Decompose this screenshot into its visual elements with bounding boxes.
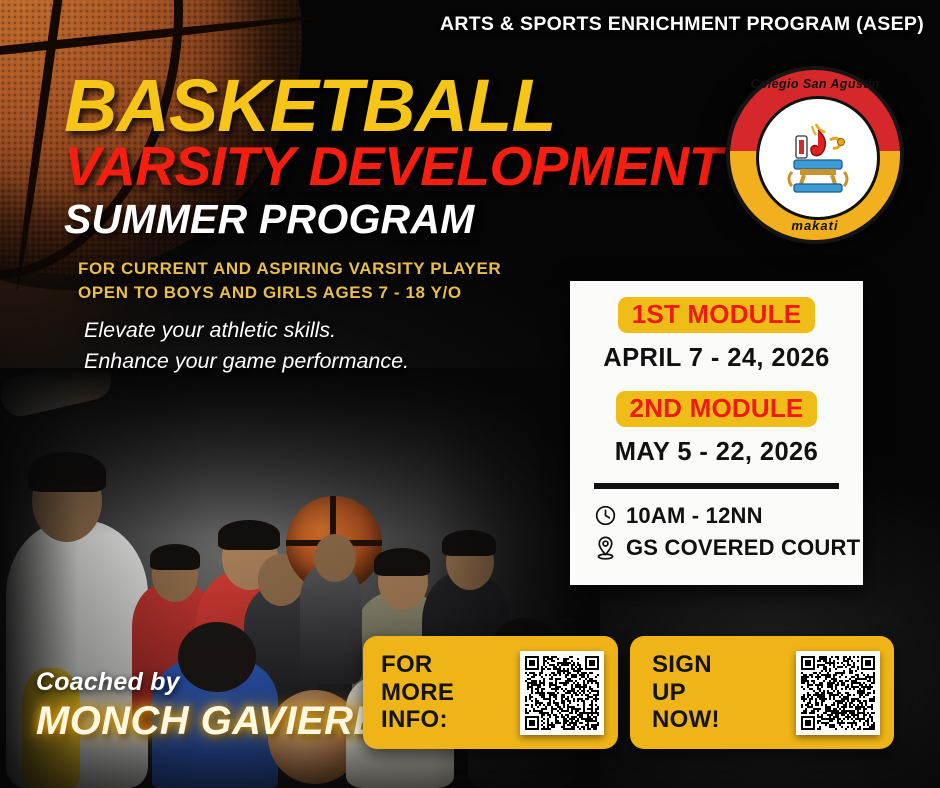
coach-name: MONCH GAVIERES [36, 699, 408, 744]
module-1-badge: 1ST MODULE [618, 297, 816, 333]
module-2-row: 2ND MODULE [570, 391, 863, 427]
player-hair [374, 548, 430, 576]
title-line-2: VARSITY DEVELOPMENT [64, 138, 722, 194]
title-block: BASKETBALL VARSITY DEVELOPMENT SUMMER PR… [64, 72, 722, 241]
logo-crest-icon [770, 110, 866, 206]
logo-city-name: makati [726, 218, 904, 233]
card-meta: 10AM - 12NN GS COVERED COURT [570, 502, 863, 561]
time-row: 10AM - 12NN [592, 502, 863, 529]
title-line-3: SUMMER PROGRAM [64, 198, 722, 241]
logo-school-name: Colegio San Agustin [726, 77, 904, 91]
more-info-label: FOR MORE INFO: [381, 651, 520, 734]
location-pin-icon [592, 534, 618, 560]
school-logo: Colegio San Agustin makati [726, 66, 904, 244]
schedule-card: 1ST MODULE APRIL 7 - 24, 2026 2ND MODULE… [570, 281, 863, 585]
player-figure [300, 564, 362, 684]
sign-up-label: SIGN UP NOW! [652, 651, 796, 734]
program-header: ARTS & SPORTS ENRICHMENT PROGRAM (ASEP) [440, 13, 924, 36]
coach-prefix: Coached by [36, 668, 408, 697]
module-1-dates: APRIL 7 - 24, 2026 [570, 344, 863, 372]
module-2-badge: 2ND MODULE [616, 391, 818, 427]
venue-text: GS COVERED COURT [626, 534, 860, 561]
tagline-line-1: Elevate your athletic skills. [84, 315, 409, 346]
card-divider [594, 483, 839, 489]
player-head [314, 534, 356, 582]
eligibility-block: FOR CURRENT AND ASPIRING VARSITY PLAYER … [78, 257, 501, 305]
title-line-1: BASKETBALL [64, 72, 722, 140]
eligibility-line-1: FOR CURRENT AND ASPIRING VARSITY PLAYER [78, 257, 501, 281]
eligibility-line-2: OPEN TO BOYS AND GIRLS AGES 7 - 18 Y/O [78, 281, 501, 305]
venue-row: GS COVERED COURT [592, 534, 863, 561]
player-hair [150, 544, 200, 570]
qr-code-icon[interactable] [520, 651, 604, 735]
player-hair [442, 530, 496, 556]
tagline-block: Elevate your athletic skills. Enhance yo… [84, 315, 409, 376]
module-2-dates: MAY 5 - 22, 2026 [570, 438, 863, 466]
coach-glasses [42, 486, 98, 502]
clock-icon [592, 503, 618, 529]
coach-credit: Coached by MONCH GAVIERES [36, 668, 408, 744]
player-hair [218, 520, 280, 550]
more-info-button[interactable]: FOR MORE INFO: [363, 636, 618, 749]
module-1-row: 1ST MODULE [570, 297, 863, 333]
time-text: 10AM - 12NN [626, 502, 763, 529]
sign-up-button[interactable]: SIGN UP NOW! [630, 636, 894, 749]
qr-code-icon[interactable] [796, 651, 880, 735]
poster-canvas: ARTS & SPORTS ENRICHMENT PROGRAM (ASEP) … [0, 0, 940, 788]
logo-inner-disc [756, 96, 880, 220]
tagline-line-2: Enhance your game performance. [84, 346, 409, 377]
